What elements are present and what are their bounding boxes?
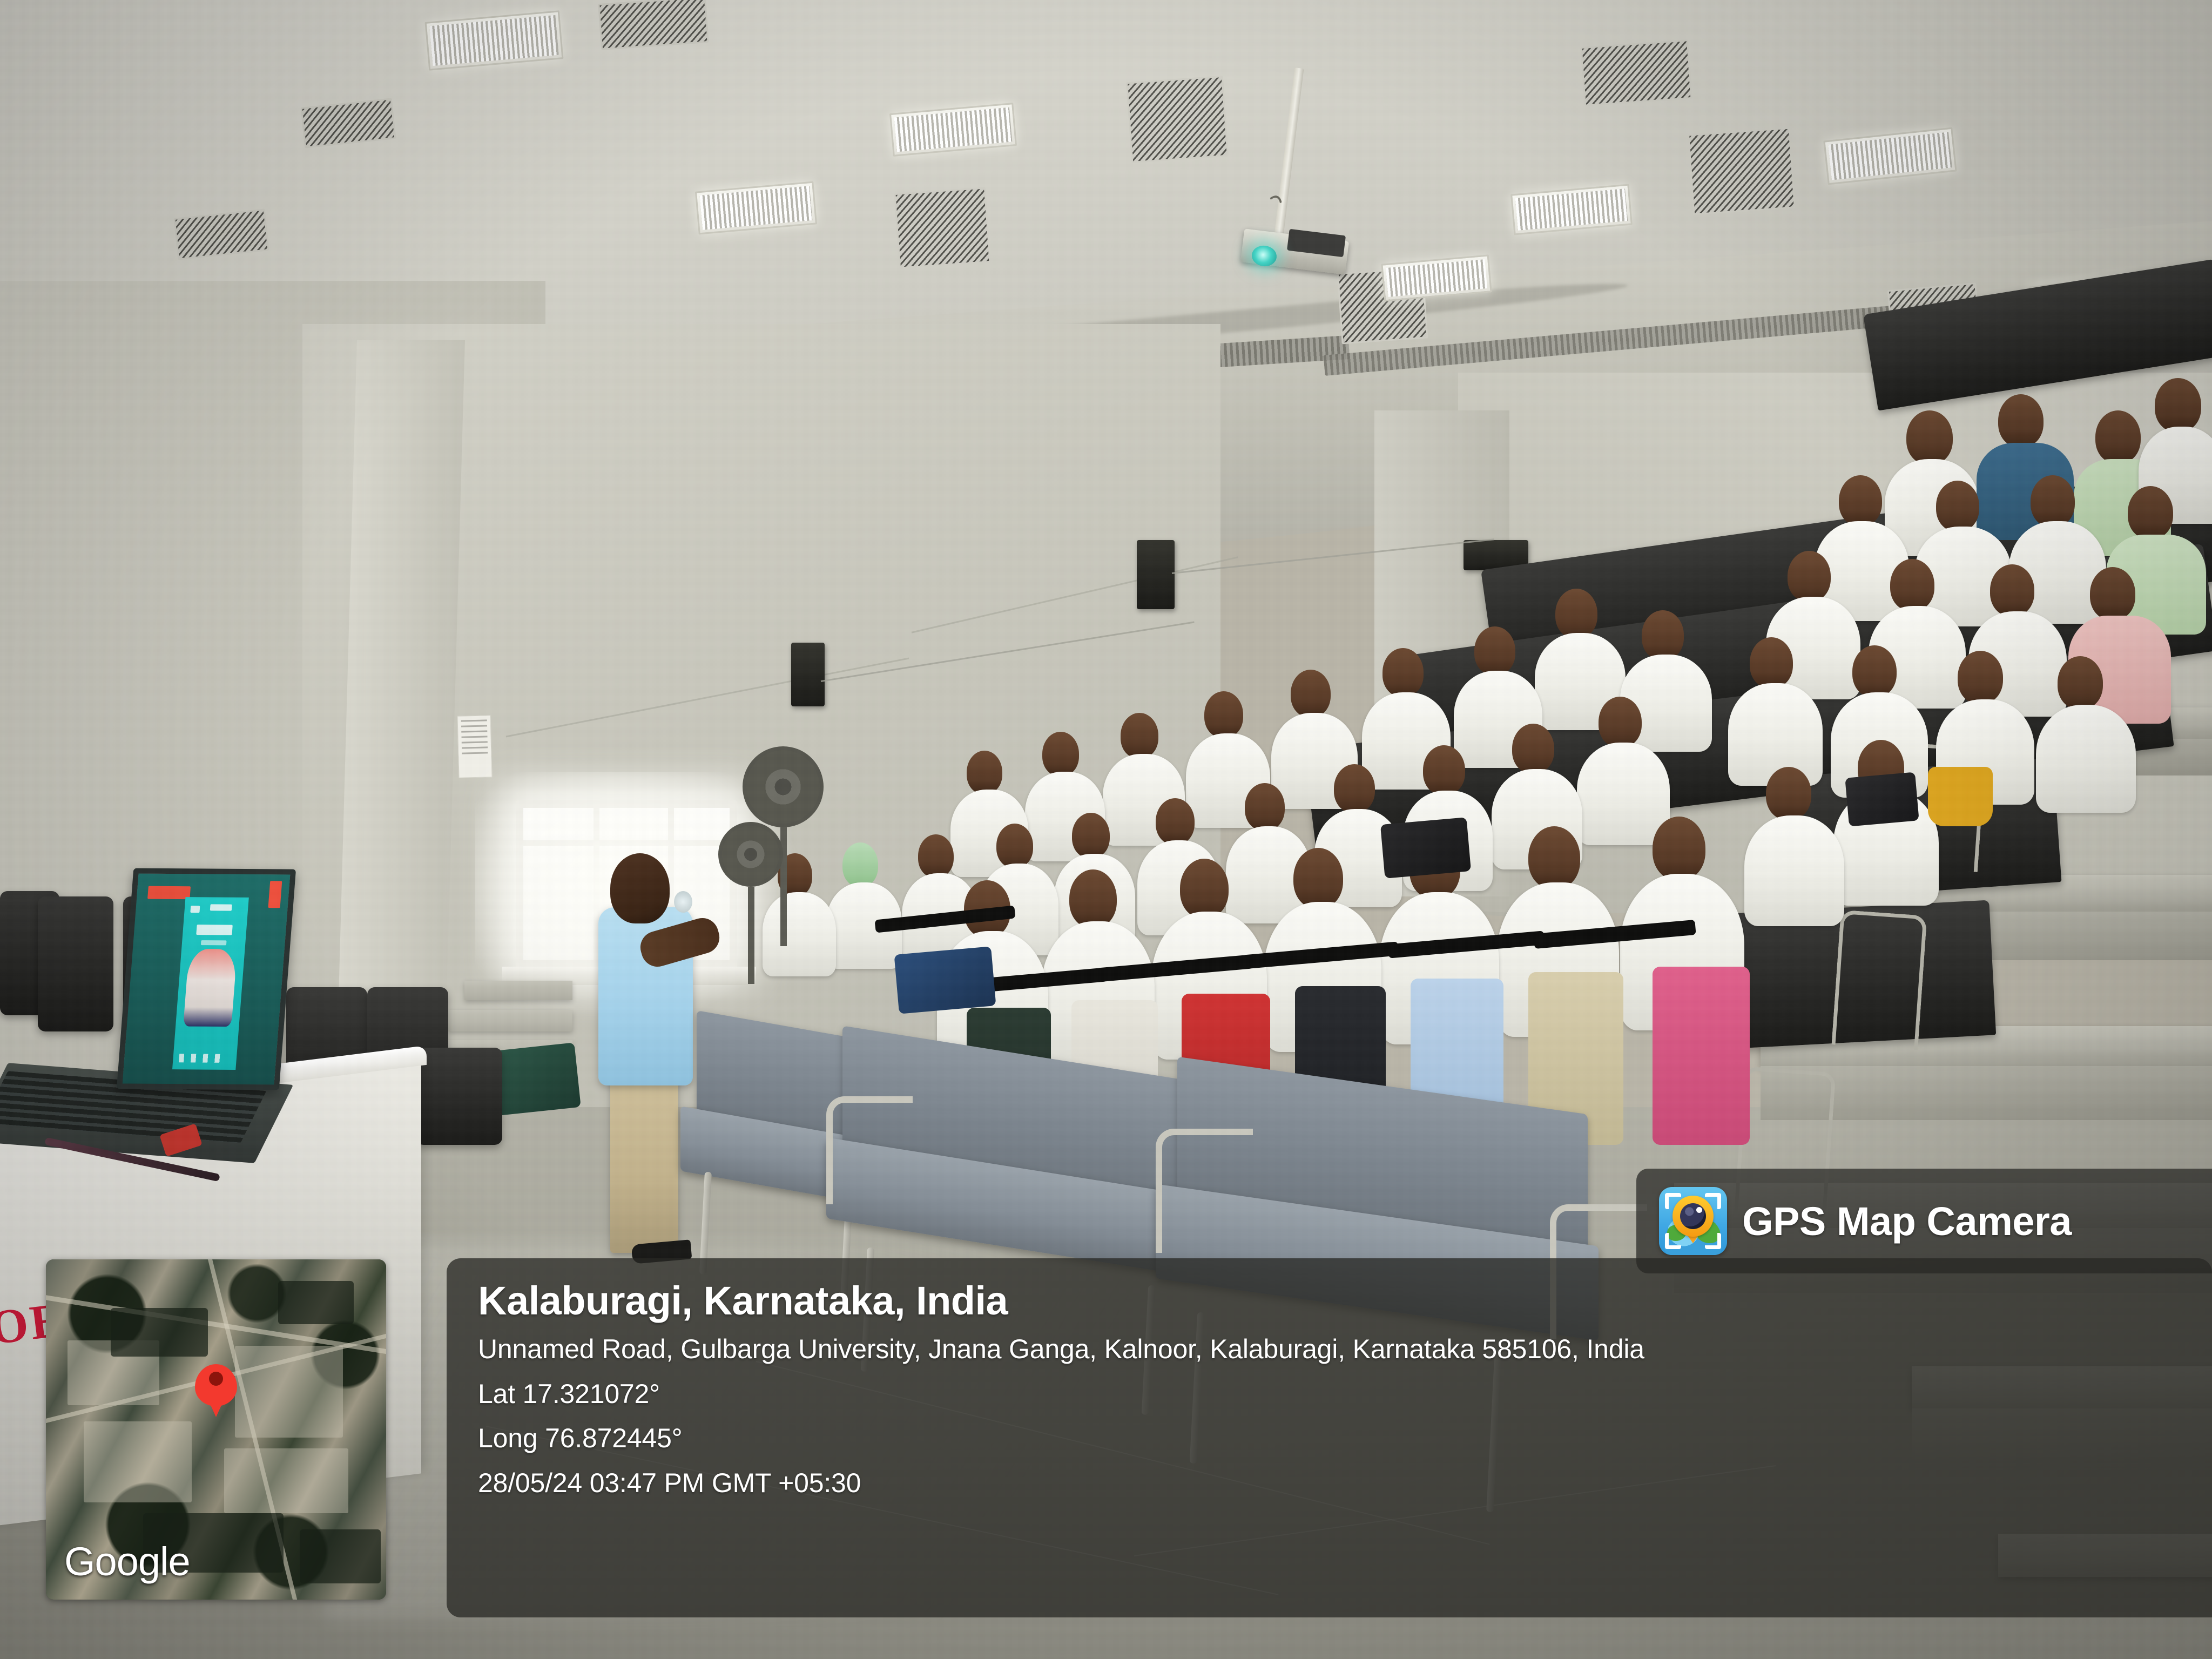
stacking-chair xyxy=(38,896,113,1031)
map-tree-cluster xyxy=(278,1281,354,1324)
gps-map-camera-logo-icon xyxy=(1659,1187,1727,1255)
wall-notice-paper xyxy=(457,715,493,778)
ac-diffuser-icon xyxy=(894,187,990,269)
map-tree-cluster xyxy=(111,1308,208,1357)
map-building xyxy=(235,1346,343,1438)
bag xyxy=(894,946,996,1014)
stair-railing xyxy=(1831,910,1927,1051)
location-address-label: Unnamed Road, Gulbarga University, Jnana… xyxy=(478,1335,2212,1364)
stacking-chair xyxy=(416,1048,502,1145)
microphone-icon xyxy=(674,891,692,913)
gps-map-camera-brand: GPS Map Camera xyxy=(1636,1169,2212,1273)
google-attribution: Google xyxy=(64,1539,190,1584)
bag xyxy=(1380,817,1471,879)
screenshot-root: OE xyxy=(0,0,2212,1659)
ac-diffuser-icon xyxy=(598,0,709,50)
ac-diffuser-icon xyxy=(1126,76,1229,163)
ac-diffuser-icon xyxy=(1580,39,1692,106)
map-pin-icon xyxy=(195,1364,237,1406)
floor-step xyxy=(464,981,572,1000)
map-building xyxy=(84,1421,192,1502)
bag xyxy=(1845,772,1919,827)
location-city-label: Kalaburagi, Karnataka, India xyxy=(478,1281,2212,1321)
laptop-icon xyxy=(117,868,296,1090)
map-thumbnail[interactable]: Google xyxy=(46,1259,386,1600)
wall-speaker-icon xyxy=(791,643,825,706)
app-name-label: GPS Map Camera xyxy=(1742,1198,2072,1244)
ac-diffuser-icon xyxy=(1688,127,1796,215)
timestamp-label: 28/05/24 03:47 PM GMT +05:30 xyxy=(478,1469,2212,1498)
longitude-label: Long 76.872445° xyxy=(478,1424,2212,1453)
gps-info-panel: Kalaburagi, Karnataka, India Unnamed Roa… xyxy=(447,1258,2212,1617)
map-tree-cluster xyxy=(300,1529,381,1583)
floor-step xyxy=(448,1010,572,1031)
wall-speaker-icon xyxy=(1137,540,1175,609)
latitude-label: Lat 17.321072° xyxy=(478,1380,2212,1408)
map-building xyxy=(224,1448,348,1513)
